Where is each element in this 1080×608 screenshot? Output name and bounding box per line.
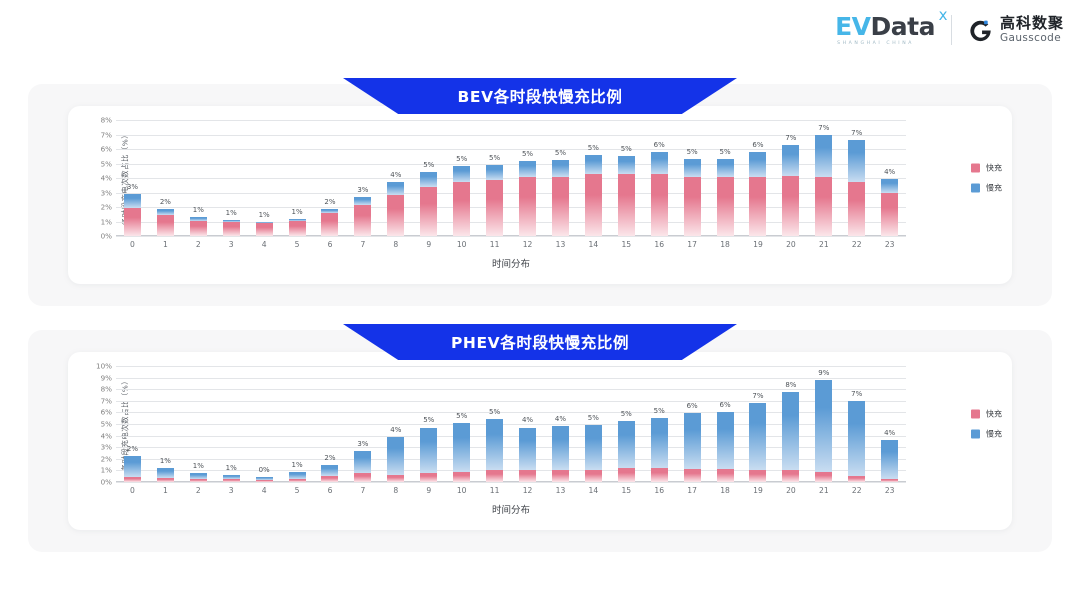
x-tick-label: 10	[445, 486, 478, 500]
bar-segment-fast[interactable]	[651, 468, 668, 482]
bar-slot[interactable]: 5%	[412, 366, 445, 482]
bar-segment-fast[interactable]	[684, 177, 701, 236]
x-axis-ticks-phev: 01234567891011121314151617181920212223	[116, 486, 906, 500]
bar-slot[interactable]: 7%	[840, 366, 873, 482]
bar-segment-fast[interactable]	[321, 213, 338, 236]
legend-swatch-icon	[971, 430, 980, 439]
bar-segment-slow[interactable]	[881, 440, 898, 478]
bar-segment-slow[interactable]	[651, 418, 668, 468]
bar-stack[interactable]	[684, 159, 701, 236]
bar-segment-fast[interactable]	[157, 215, 174, 236]
bar-value-label: 8%	[785, 381, 796, 389]
bar-slot[interactable]: 6%	[643, 120, 676, 236]
bar-segment-slow[interactable]	[519, 161, 536, 177]
bar-stack[interactable]	[815, 380, 832, 482]
y-tick-label: 6%	[101, 145, 112, 154]
bar-segment-fast[interactable]	[321, 476, 338, 482]
chart-bev: 各时段充电次数占比（%）0%1%2%3%4%5%6%7%8%3%2%1%1%1%…	[68, 106, 1012, 284]
x-axis-label-bev: 时间分布	[116, 256, 906, 270]
bar-segment-fast[interactable]	[749, 470, 766, 482]
bar-slot[interactable]: 5%	[445, 120, 478, 236]
x-tick-label: 2	[182, 486, 215, 500]
x-axis-label-phev: 时间分布	[116, 502, 906, 516]
bar-stack[interactable]	[124, 194, 141, 236]
bar-segment-slow[interactable]	[585, 155, 602, 174]
x-tick-label: 15	[610, 240, 643, 254]
bar-value-label: 6%	[687, 402, 698, 410]
bar-slot[interactable]: 5%	[511, 120, 544, 236]
bar-slot[interactable]: 4%	[873, 120, 906, 236]
bar-segment-fast[interactable]	[387, 475, 404, 482]
bar-slot[interactable]: 1%	[281, 120, 314, 236]
bar-segment-slow[interactable]	[782, 145, 799, 176]
bar-segment-slow[interactable]	[881, 179, 898, 192]
bar-segment-slow[interactable]	[848, 140, 865, 181]
bar-slot[interactable]: 5%	[676, 120, 709, 236]
bar-segment-fast[interactable]	[289, 479, 306, 482]
x-tick-label: 0	[116, 486, 149, 500]
bar-value-label: 5%	[621, 145, 632, 153]
legend-item[interactable]: 慢充	[971, 183, 1002, 194]
evdata-x-mark: x	[939, 8, 947, 23]
bar-stack[interactable]	[321, 209, 338, 236]
bar-slot[interactable]: 5%	[610, 120, 643, 236]
x-tick-label: 7	[346, 486, 379, 500]
bar-slot[interactable]: 3%	[346, 120, 379, 236]
bar-stack[interactable]	[387, 182, 404, 236]
bar-segment-slow[interactable]	[519, 428, 536, 471]
bar-segment-slow[interactable]	[354, 197, 371, 205]
gausscode-mark-icon	[968, 18, 993, 43]
x-tick-label: 5	[281, 240, 314, 254]
bar-segment-fast[interactable]	[190, 221, 207, 236]
bar-segment-slow[interactable]	[552, 426, 569, 470]
x-tick-label: 7	[346, 240, 379, 254]
bar-segment-fast[interactable]	[519, 177, 536, 236]
bar-slot[interactable]: 5%	[478, 120, 511, 236]
x-tick-label: 8	[379, 240, 412, 254]
bar-slot[interactable]: 6%	[709, 366, 742, 482]
x-tick-label: 6	[314, 486, 347, 500]
bar-segment-fast[interactable]	[486, 180, 503, 236]
bar-segment-slow[interactable]	[618, 156, 635, 174]
bar-stack[interactable]	[848, 401, 865, 482]
x-tick-label: 3	[215, 486, 248, 500]
bar-segment-fast[interactable]	[256, 223, 273, 236]
bar-segment-fast[interactable]	[256, 480, 273, 482]
bar-value-label: 3%	[357, 440, 368, 448]
y-axis-ticks-phev: 0%1%2%3%4%5%6%7%8%9%10%	[88, 366, 112, 482]
bar-segment-slow[interactable]	[782, 392, 799, 470]
bar-stack[interactable]	[782, 392, 799, 482]
bar-segment-slow[interactable]	[321, 465, 338, 477]
bar-value-label: 5%	[621, 410, 632, 418]
chart-title-phev: PHEV各时段快慢充比例	[451, 331, 629, 353]
bar-slot[interactable]: 4%	[873, 366, 906, 482]
bar-slot[interactable]: 7%	[840, 120, 873, 236]
bar-segment-fast[interactable]	[749, 177, 766, 236]
bar-stack[interactable]	[486, 165, 503, 236]
bar-segment-fast[interactable]	[519, 470, 536, 482]
evdata-prefix: EV	[835, 12, 870, 41]
bar-segment-slow[interactable]	[124, 194, 141, 208]
gausscode-text: 高科数聚 Gausscode	[1000, 16, 1064, 44]
bar-stack[interactable]	[157, 209, 174, 236]
bar-stack[interactable]	[190, 217, 207, 236]
legend-item[interactable]: 快充	[971, 409, 1002, 420]
y-tick-label: 4%	[101, 174, 112, 183]
bar-value-label: 2%	[160, 198, 171, 206]
bar-segment-slow[interactable]	[387, 182, 404, 195]
bar-slot[interactable]: 0%	[248, 366, 281, 482]
x-tick-label: 11	[478, 240, 511, 254]
bar-segment-slow[interactable]	[651, 152, 668, 174]
bar-stack[interactable]	[749, 152, 766, 236]
bar-slot[interactable]: 5%	[544, 120, 577, 236]
bar-value-label: 5%	[456, 155, 467, 163]
bar-slot[interactable]: 1%	[281, 366, 314, 482]
bar-value-label: 1%	[226, 209, 237, 217]
x-tick-label: 0	[116, 240, 149, 254]
bar-stack[interactable]	[717, 412, 734, 482]
bar-segment-fast[interactable]	[717, 469, 734, 482]
bar-stack[interactable]	[717, 159, 734, 236]
y-tick-label: 4%	[101, 431, 112, 440]
bar-segment-slow[interactable]	[618, 421, 635, 468]
bar-value-label: 4%	[884, 168, 895, 176]
bar-segment-fast[interactable]	[881, 193, 898, 237]
bar-segment-slow[interactable]	[749, 403, 766, 470]
bar-segment-fast[interactable]	[453, 182, 470, 236]
bar-slot[interactable]: 5%	[412, 120, 445, 236]
bar-segment-fast[interactable]	[618, 468, 635, 482]
bar-stack[interactable]	[321, 465, 338, 482]
bar-segment-slow[interactable]	[124, 456, 141, 476]
bar-value-label: 1%	[292, 461, 303, 469]
bar-slot[interactable]: 1%	[149, 366, 182, 482]
y-tick-label: 3%	[101, 443, 112, 452]
chart-title-bev: BEV各时段快慢充比例	[458, 85, 623, 107]
bar-stack[interactable]	[453, 166, 470, 236]
bar-value-label: 3%	[357, 186, 368, 194]
x-tick-label: 22	[840, 240, 873, 254]
bar-stack[interactable]	[552, 160, 569, 236]
bar-value-label: 5%	[555, 149, 566, 157]
bar-segment-fast[interactable]	[717, 177, 734, 236]
bar-stack[interactable]	[190, 473, 207, 482]
bar-slot[interactable]: 7%	[774, 120, 807, 236]
bar-value-label: 2%	[324, 454, 335, 462]
y-tick-label: 8%	[101, 116, 112, 125]
bar-segment-fast[interactable]	[354, 473, 371, 482]
bar-slot[interactable]: 3%	[346, 366, 379, 482]
bar-value-label: 1%	[160, 457, 171, 465]
bar-segment-fast[interactable]	[684, 469, 701, 482]
bar-stack[interactable]	[223, 475, 240, 482]
x-tick-label: 1	[149, 486, 182, 500]
bar-slot[interactable]: 4%	[511, 366, 544, 482]
bar-segment-fast[interactable]	[387, 195, 404, 236]
x-tick-label: 18	[709, 486, 742, 500]
legend-swatch-icon	[971, 184, 980, 193]
y-axis-ticks-bev: 0%1%2%3%4%5%6%7%8%	[88, 120, 112, 236]
bar-value-label: 5%	[654, 407, 665, 415]
logo-divider	[951, 15, 952, 45]
chart-card-bev: 各时段充电次数占比（%）0%1%2%3%4%5%6%7%8%3%2%1%1%1%…	[68, 106, 1012, 284]
x-tick-label: 22	[840, 486, 873, 500]
grid-line	[116, 482, 906, 483]
x-tick-label: 19	[742, 486, 775, 500]
y-tick-label: 1%	[101, 217, 112, 226]
x-tick-label: 16	[643, 240, 676, 254]
bar-segment-fast[interactable]	[815, 177, 832, 236]
x-tick-label: 9	[412, 486, 445, 500]
bar-slot[interactable]: 5%	[643, 366, 676, 482]
gausscode-cn-name: 高科数聚	[1000, 16, 1064, 31]
bar-segment-slow[interactable]	[486, 419, 503, 469]
legend-item[interactable]: 快充	[971, 163, 1002, 174]
bar-stack[interactable]	[354, 451, 371, 482]
bar-slot[interactable]: 3%	[116, 120, 149, 236]
bar-slot[interactable]: 2%	[314, 120, 347, 236]
bar-slot[interactable]: 1%	[182, 120, 215, 236]
bar-segment-slow[interactable]	[684, 413, 701, 469]
x-tick-label: 13	[544, 486, 577, 500]
y-tick-label: 8%	[101, 385, 112, 394]
bar-stack[interactable]	[651, 418, 668, 482]
bar-stack[interactable]	[256, 477, 273, 482]
bar-segment-fast[interactable]	[453, 472, 470, 482]
bar-value-label: 3%	[127, 183, 138, 191]
bar-stack[interactable]	[289, 472, 306, 482]
bar-segment-fast[interactable]	[420, 187, 437, 236]
bar-slot[interactable]: 5%	[577, 366, 610, 482]
bar-segment-slow[interactable]	[815, 135, 832, 178]
bar-slot[interactable]: 4%	[544, 366, 577, 482]
bar-stack[interactable]	[420, 428, 437, 483]
bar-slot[interactable]: 1%	[215, 366, 248, 482]
bar-segment-fast[interactable]	[289, 221, 306, 236]
bar-segment-fast[interactable]	[190, 479, 207, 482]
bar-segment-slow[interactable]	[585, 425, 602, 470]
y-tick-label: 1%	[101, 466, 112, 475]
bar-slot[interactable]: 8%	[774, 366, 807, 482]
bar-segment-fast[interactable]	[782, 470, 799, 482]
bar-value-label: 4%	[390, 426, 401, 434]
bar-stack[interactable]	[684, 413, 701, 482]
bar-slot[interactable]: 5%	[577, 120, 610, 236]
x-tick-label: 14	[577, 240, 610, 254]
evdata-tagline: SHANGHAI CHINA	[837, 41, 914, 46]
x-tick-label: 23	[873, 486, 906, 500]
bar-value-label: 5%	[423, 416, 434, 424]
bar-segment-fast[interactable]	[651, 174, 668, 236]
bar-slot[interactable]: 7%	[807, 120, 840, 236]
bar-value-label: 2%	[127, 445, 138, 453]
x-tick-label: 19	[742, 240, 775, 254]
bar-segment-slow[interactable]	[684, 159, 701, 176]
bar-slot[interactable]: 5%	[478, 366, 511, 482]
bar-segment-fast[interactable]	[223, 222, 240, 236]
bar-slot[interactable]: 2%	[314, 366, 347, 482]
bar-stack[interactable]	[519, 161, 536, 236]
bar-stack[interactable]	[486, 419, 503, 482]
legend-label: 快充	[986, 163, 1002, 174]
bar-slot[interactable]: 5%	[610, 366, 643, 482]
bar-segment-fast[interactable]	[552, 470, 569, 482]
bar-segment-slow[interactable]	[486, 165, 503, 180]
bar-stack[interactable]	[256, 222, 273, 236]
bar-slot[interactable]: 5%	[709, 120, 742, 236]
bar-segment-fast[interactable]	[585, 470, 602, 482]
bar-segment-slow[interactable]	[749, 152, 766, 177]
bar-stack[interactable]	[881, 179, 898, 236]
legend-label: 慢充	[986, 183, 1002, 194]
x-tick-label: 4	[248, 240, 281, 254]
bar-value-label: 5%	[588, 414, 599, 422]
bar-segment-fast[interactable]	[124, 477, 141, 482]
bar-stack[interactable]	[782, 145, 799, 236]
x-tick-label: 14	[577, 486, 610, 500]
bar-value-label: 6%	[719, 401, 730, 409]
bar-slot[interactable]: 1%	[182, 366, 215, 482]
bar-segment-slow[interactable]	[354, 451, 371, 473]
bar-stack[interactable]	[354, 197, 371, 236]
bar-slot[interactable]: 1%	[215, 120, 248, 236]
bar-slot[interactable]: 9%	[807, 366, 840, 482]
bar-stack[interactable]	[387, 437, 404, 482]
evdata-logo-icon: EVDatax SHANGHAI CHINA	[835, 14, 935, 46]
bar-stack[interactable]	[749, 403, 766, 482]
bar-segment-fast[interactable]	[354, 205, 371, 236]
bar-segment-fast[interactable]	[157, 478, 174, 482]
y-tick-label: 10%	[96, 362, 112, 371]
bar-stack[interactable]	[815, 135, 832, 236]
bar-segment-fast[interactable]	[552, 177, 569, 236]
bar-value-label: 7%	[818, 124, 829, 132]
bar-segment-fast[interactable]	[618, 174, 635, 236]
evdata-wordmark: EVDatax	[835, 14, 935, 39]
bar-segment-slow[interactable]	[552, 160, 569, 177]
bar-value-label: 7%	[851, 129, 862, 137]
bar-slot[interactable]: 6%	[742, 120, 775, 236]
x-tick-label: 17	[676, 240, 709, 254]
bar-slot[interactable]: 2%	[116, 366, 149, 482]
bar-value-label: 5%	[687, 148, 698, 156]
bar-slot[interactable]: 7%	[742, 366, 775, 482]
bar-stack[interactable]	[585, 425, 602, 482]
bar-stack[interactable]	[881, 440, 898, 482]
bar-segment-slow[interactable]	[453, 166, 470, 183]
bar-stack[interactable]	[618, 421, 635, 482]
bar-segment-slow[interactable]	[815, 380, 832, 472]
x-tick-label: 15	[610, 486, 643, 500]
bar-segment-slow[interactable]	[420, 428, 437, 474]
bar-segment-slow[interactable]	[717, 159, 734, 176]
bar-segment-slow[interactable]	[453, 423, 470, 472]
bar-value-label: 5%	[522, 150, 533, 158]
x-tick-label: 3	[215, 240, 248, 254]
legend-item[interactable]: 慢充	[971, 429, 1002, 440]
bar-segment-fast[interactable]	[585, 174, 602, 236]
bar-slot[interactable]: 5%	[445, 366, 478, 482]
x-tick-label: 1	[149, 240, 182, 254]
bar-stack[interactable]	[223, 220, 240, 236]
bar-slot[interactable]: 4%	[379, 366, 412, 482]
bar-segment-fast[interactable]	[881, 479, 898, 482]
bar-segment-fast[interactable]	[124, 208, 141, 236]
bar-stack[interactable]	[124, 456, 141, 482]
bar-stack[interactable]	[420, 172, 437, 236]
legend-swatch-icon	[971, 410, 980, 419]
bar-segment-fast[interactable]	[420, 473, 437, 482]
bar-segment-fast[interactable]	[815, 472, 832, 482]
bar-stack[interactable]	[453, 423, 470, 482]
bar-segment-fast[interactable]	[223, 479, 240, 482]
x-tick-label: 10	[445, 240, 478, 254]
gausscode-logo-icon: 高科数聚 Gausscode	[968, 16, 1064, 44]
x-tick-label: 16	[643, 486, 676, 500]
bar-segment-fast[interactable]	[848, 182, 865, 236]
x-tick-label: 21	[807, 486, 840, 500]
bar-stack[interactable]	[651, 152, 668, 236]
x-tick-label: 5	[281, 486, 314, 500]
bar-stack[interactable]	[289, 219, 306, 236]
bar-value-label: 5%	[489, 154, 500, 162]
y-tick-label: 6%	[101, 408, 112, 417]
bar-segment-slow[interactable]	[157, 468, 174, 478]
plot-area-bev: 各时段充电次数占比（%）0%1%2%3%4%5%6%7%8%3%2%1%1%1%…	[116, 120, 906, 236]
bar-segment-slow[interactable]	[420, 172, 437, 187]
bar-value-label: 5%	[719, 148, 730, 156]
bar-value-label: 5%	[423, 161, 434, 169]
panel-bev: 各时段充电次数占比（%）0%1%2%3%4%5%6%7%8%3%2%1%1%1%…	[28, 84, 1052, 306]
legend-bev: 快充慢充	[971, 163, 1002, 194]
panel-phev: 各时段充电次数占比（%）0%1%2%3%4%5%6%7%8%9%10%2%1%1…	[28, 330, 1052, 552]
bar-stack[interactable]	[519, 428, 536, 483]
y-tick-label: 0%	[101, 232, 112, 241]
bar-stack[interactable]	[157, 468, 174, 482]
bar-value-label: 6%	[752, 141, 763, 149]
bar-segment-slow[interactable]	[848, 401, 865, 475]
x-tick-label: 9	[412, 240, 445, 254]
x-tick-label: 21	[807, 240, 840, 254]
legend-phev: 快充慢充	[971, 409, 1002, 440]
bar-stack[interactable]	[848, 140, 865, 236]
bar-segment-fast[interactable]	[782, 176, 799, 236]
bar-value-label: 1%	[259, 211, 270, 219]
bar-value-label: 6%	[654, 141, 665, 149]
bar-stack[interactable]	[552, 426, 569, 482]
plot-area-phev: 各时段充电次数占比（%）0%1%2%3%4%5%6%7%8%9%10%2%1%1…	[116, 366, 906, 482]
bar-slot[interactable]: 1%	[248, 120, 281, 236]
bar-slot[interactable]: 6%	[676, 366, 709, 482]
bar-value-label: 4%	[884, 429, 895, 437]
page-header: EVDatax SHANGHAI CHINA 高科数聚 Gausscode	[0, 0, 1080, 62]
bar-value-label: 7%	[785, 134, 796, 142]
bar-segment-slow[interactable]	[387, 437, 404, 475]
bar-stack[interactable]	[618, 156, 635, 236]
bar-segment-fast[interactable]	[486, 470, 503, 482]
bar-slot[interactable]: 2%	[149, 120, 182, 236]
chart-card-phev: 各时段充电次数占比（%）0%1%2%3%4%5%6%7%8%9%10%2%1%1…	[68, 352, 1012, 530]
bar-stack[interactable]	[585, 155, 602, 236]
bar-segment-fast[interactable]	[848, 476, 865, 482]
bar-segment-slow[interactable]	[717, 412, 734, 469]
y-tick-label: 5%	[101, 420, 112, 429]
x-tick-label: 17	[676, 486, 709, 500]
bar-slot[interactable]: 4%	[379, 120, 412, 236]
